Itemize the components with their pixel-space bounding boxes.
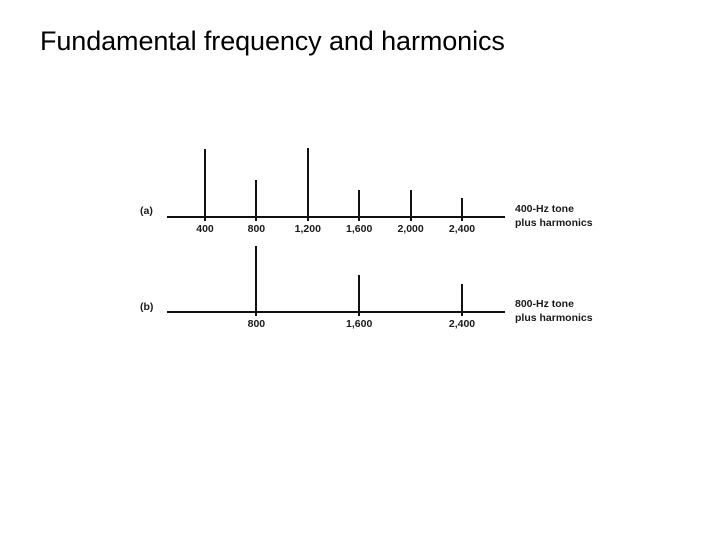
tick-label-800: 800 bbox=[248, 223, 266, 235]
spike-1600 bbox=[358, 275, 360, 311]
spike-1600 bbox=[358, 190, 360, 216]
panel-a-axis bbox=[167, 216, 505, 218]
harmonic-spectra-figure: (a) 4008001,2001,6002,0002,400 400-Hz to… bbox=[0, 0, 720, 540]
tick-label-1600: 1,600 bbox=[346, 318, 372, 330]
panel-b-letter: (b) bbox=[140, 301, 153, 313]
panel-b-axis bbox=[167, 311, 505, 313]
tick-label-2400: 2,400 bbox=[449, 318, 475, 330]
spike-1200 bbox=[307, 148, 309, 216]
tick-label-2400: 2,400 bbox=[449, 223, 475, 235]
tick-label-400: 400 bbox=[196, 223, 214, 235]
panel-b-annotation-line2: plus harmonics bbox=[515, 311, 593, 325]
panel-b-annotation-line1: 800-Hz tone bbox=[515, 298, 574, 310]
spike-2400 bbox=[461, 198, 463, 216]
tick-mark-1600 bbox=[358, 218, 360, 221]
tick-mark-1200 bbox=[307, 218, 309, 221]
tick-label-800: 800 bbox=[248, 318, 266, 330]
tick-label-2000: 2,000 bbox=[397, 223, 423, 235]
tick-mark-2400 bbox=[461, 313, 463, 316]
spike-2400 bbox=[461, 284, 463, 311]
tick-mark-2400 bbox=[461, 218, 463, 221]
panel-a-annotation-line1: 400-Hz tone bbox=[515, 203, 574, 215]
panel-b-annotation: 800-Hz tone plus harmonics bbox=[515, 297, 593, 325]
panel-a-annotation-line2: plus harmonics bbox=[515, 216, 593, 230]
tick-mark-800 bbox=[255, 313, 257, 316]
tick-label-1200: 1,200 bbox=[295, 223, 321, 235]
tick-mark-2000 bbox=[410, 218, 412, 221]
spike-800 bbox=[255, 246, 257, 311]
tick-mark-800 bbox=[255, 218, 257, 221]
panel-a-letter: (a) bbox=[140, 205, 153, 217]
spike-800 bbox=[255, 180, 257, 216]
panel-a-annotation: 400-Hz tone plus harmonics bbox=[515, 202, 593, 230]
spike-400 bbox=[204, 149, 206, 216]
tick-mark-1600 bbox=[358, 313, 360, 316]
tick-label-1600: 1,600 bbox=[346, 223, 372, 235]
spike-2000 bbox=[410, 190, 412, 216]
tick-mark-400 bbox=[204, 218, 206, 221]
